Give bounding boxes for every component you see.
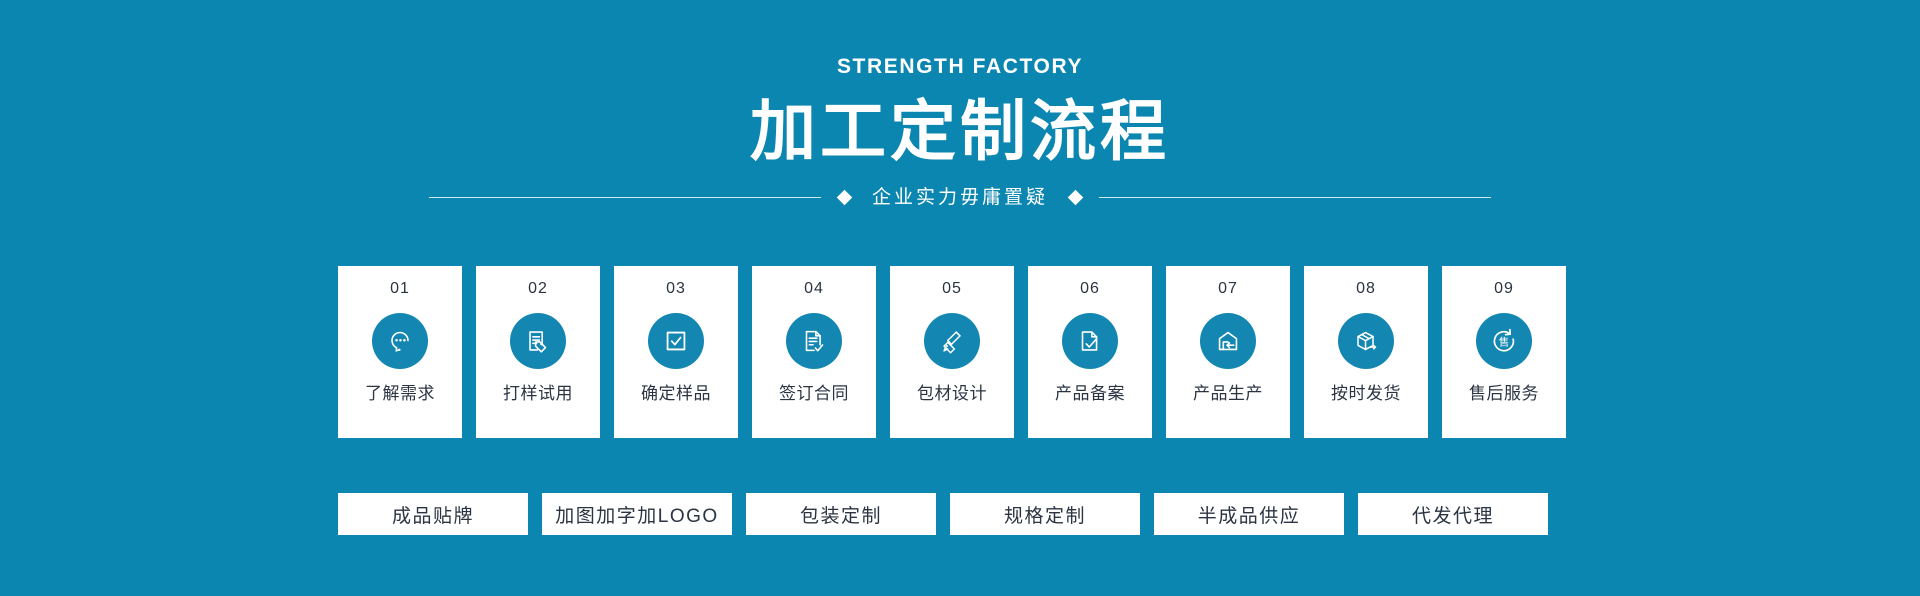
step-number: 03 [666, 281, 686, 297]
step-card[interactable]: 05 包材设计 [890, 266, 1014, 438]
subtitle-row: 企业实力毋庸置疑 [0, 188, 1920, 207]
step-card[interactable]: 01 了解需求 [338, 266, 462, 438]
step-label: 产品生产 [1193, 385, 1263, 402]
step-number: 08 [1356, 281, 1376, 297]
contract-check-icon [786, 313, 842, 369]
tag-button[interactable]: 规格定制 [950, 493, 1140, 535]
service-tags: 成品贴牌 加图加字加LOGO 包装定制 规格定制 半成品供应 代发代理 [338, 493, 1548, 535]
tag-button[interactable]: 加图加字加LOGO [542, 493, 732, 535]
divider-line-right [1099, 197, 1491, 198]
factory-arrow-icon [1200, 313, 1256, 369]
step-number: 05 [942, 281, 962, 297]
divider-line-left [429, 197, 821, 198]
step-card[interactable]: 02 打样试用 [476, 266, 600, 438]
checkbox-check-icon [648, 313, 704, 369]
box-arrow-icon [1338, 313, 1394, 369]
step-number: 09 [1494, 281, 1514, 297]
step-label: 确定样品 [641, 385, 711, 402]
step-label: 售后服务 [1469, 385, 1539, 402]
step-number: 07 [1218, 281, 1238, 297]
process-steps: 01 了解需求 02 [338, 266, 1566, 438]
tag-button[interactable]: 成品贴牌 [338, 493, 528, 535]
file-check-icon [1062, 313, 1118, 369]
step-card[interactable]: 04 签订合同 [752, 266, 876, 438]
document-tag-icon [510, 313, 566, 369]
speech-bubble-dots-icon [372, 313, 428, 369]
diamond-icon-right [1068, 190, 1084, 206]
diamond-icon-left [837, 190, 853, 206]
step-card[interactable]: 07 产品生产 [1166, 266, 1290, 438]
step-label: 包材设计 [917, 385, 987, 402]
step-label: 签订合同 [779, 385, 849, 402]
step-card[interactable]: 06 产品备案 [1028, 266, 1152, 438]
pencil-ruler-icon [924, 313, 980, 369]
tag-button[interactable]: 半成品供应 [1154, 493, 1344, 535]
step-card[interactable]: 03 确定样品 [614, 266, 738, 438]
eyebrow-text: STRENGTH FACTORY [0, 56, 1920, 77]
step-number: 04 [804, 281, 824, 297]
step-label: 产品备案 [1055, 385, 1125, 402]
step-number: 01 [390, 281, 410, 297]
step-label: 打样试用 [503, 385, 573, 402]
page-title: 加工定制流程 [0, 93, 1920, 171]
step-label: 了解需求 [365, 385, 435, 402]
step-number: 02 [528, 281, 548, 297]
step-card[interactable]: 08 按时发货 [1304, 266, 1428, 438]
step-number: 06 [1080, 281, 1100, 297]
refresh-sale-icon: 售 [1476, 313, 1532, 369]
subtitle-text: 企业实力毋庸置疑 [868, 188, 1052, 207]
promo-banner: STRENGTH FACTORY 加工定制流程 企业实力毋庸置疑 01 了解需 [0, 0, 1920, 596]
tag-button[interactable]: 包装定制 [746, 493, 936, 535]
svg-text:售: 售 [1499, 335, 1510, 348]
step-label: 按时发货 [1331, 385, 1401, 402]
banner-header: STRENGTH FACTORY 加工定制流程 [0, 0, 1920, 171]
step-card[interactable]: 09 售 售后服务 [1442, 266, 1566, 438]
tag-button[interactable]: 代发代理 [1358, 493, 1548, 535]
